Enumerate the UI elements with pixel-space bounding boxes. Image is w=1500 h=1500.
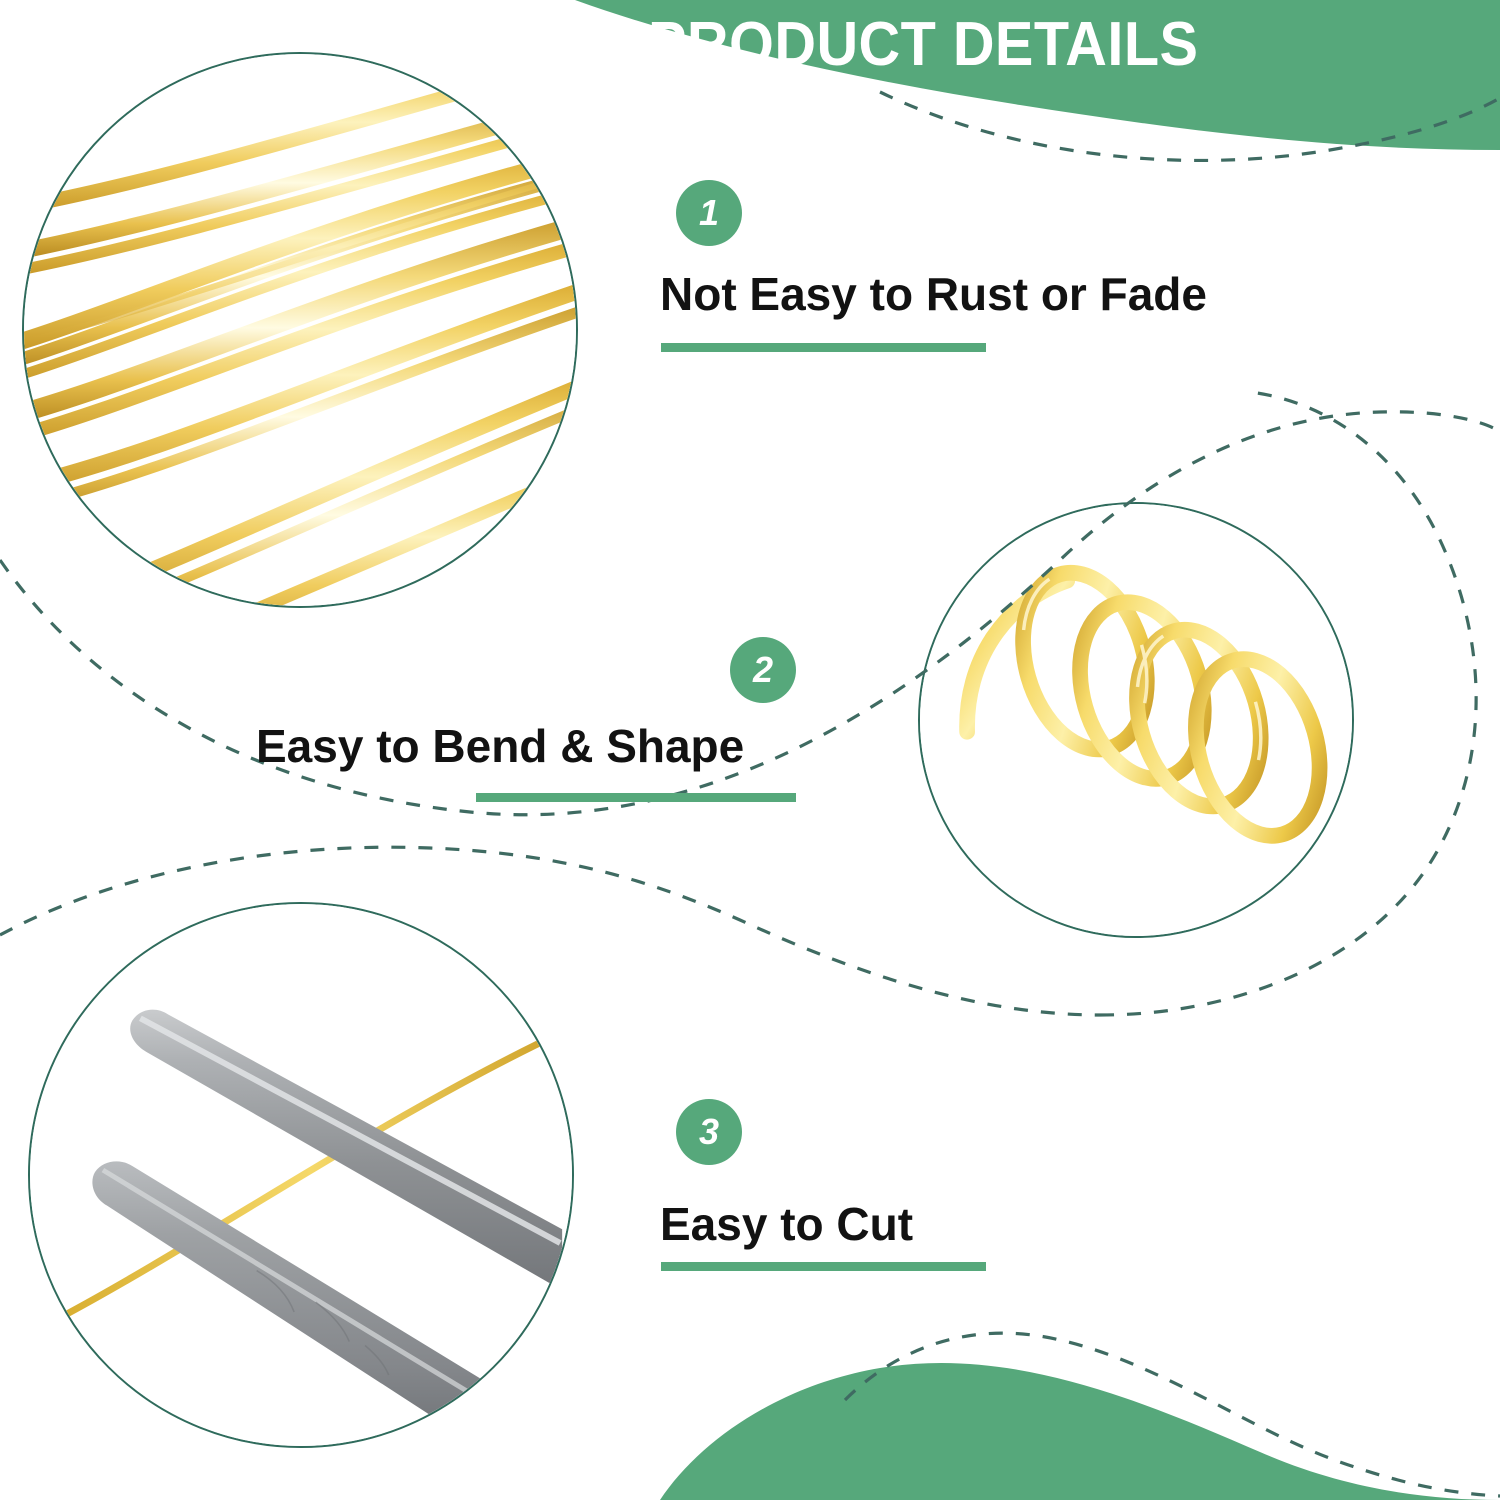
feature-underline-3 xyxy=(661,1262,986,1271)
content-layer: PRODUCT DETAILS 1 Not Easy to Rust or Fa… xyxy=(0,0,1500,1500)
infographic-canvas: PRODUCT DETAILS 1 Not Easy to Rust or Fa… xyxy=(0,0,1500,1500)
page-title: PRODUCT DETAILS xyxy=(648,8,1262,82)
feature-badge-3: 3 xyxy=(676,1099,742,1165)
feature-heading-3: Easy to Cut xyxy=(660,1196,913,1252)
feature-heading-1: Not Easy to Rust or Fade xyxy=(660,266,1207,322)
feature-underline-2 xyxy=(476,793,796,802)
feature-badge-1: 1 xyxy=(676,180,742,246)
feature-badge-2: 2 xyxy=(730,637,796,703)
feature-heading-2: Easy to Bend & Shape xyxy=(256,718,744,774)
feature-underline-1 xyxy=(661,343,986,352)
